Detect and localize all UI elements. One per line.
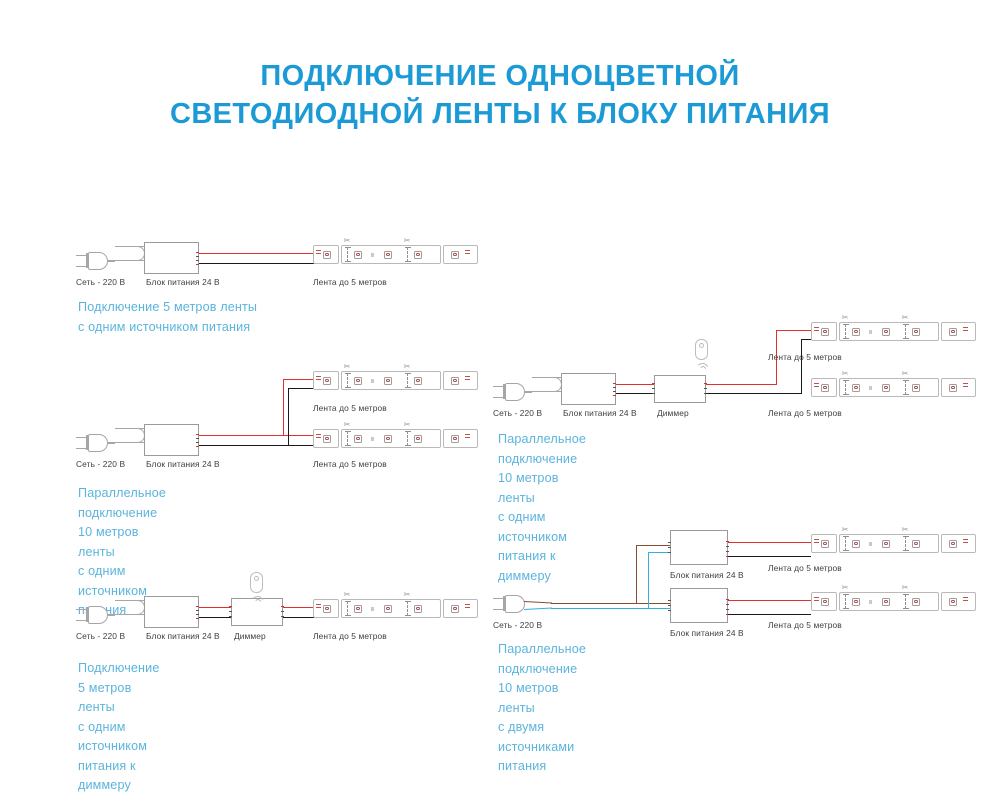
led-strip: ✂ ✂ (811, 592, 976, 611)
label-psu: Блок питания 24 В (563, 408, 637, 418)
scissors-icon: ✂ (902, 584, 909, 592)
led-strip: ✂ ✂ (811, 534, 976, 553)
psu-box (144, 424, 199, 456)
wire-positive-out (706, 384, 777, 385)
wire-positive-riser (283, 379, 284, 436)
wire-live-run (551, 603, 671, 604)
wire-live-top (636, 545, 671, 546)
wire-positive-out (283, 607, 315, 608)
label-strip-bottom: Лента до 5 метров (313, 459, 387, 469)
wire-positive (728, 542, 811, 543)
scheme-1: ✂ ✂ Сеть - 220 В Блок питания 24 В Лента… (0, 0, 500, 120)
label-psu: Блок питания 24 В (146, 631, 220, 641)
scissors-icon: ✂ (842, 584, 849, 592)
label-strip: Лента до 5 метров (313, 277, 387, 287)
wire-negative (728, 614, 811, 615)
psu-box (144, 596, 199, 628)
wire-neutral (524, 608, 552, 611)
wire-positive (199, 435, 314, 436)
label-strip-bottom: Лента до 5 метров (768, 408, 842, 418)
scheme-4-caption: Параллельное подключение 10 метров ленты… (498, 430, 586, 586)
led-strip: ✂ ✂ (313, 429, 478, 448)
label-dimmer: Диммер (234, 631, 266, 641)
scissors-icon: ✂ (404, 237, 411, 245)
dimmer-box (654, 375, 706, 403)
scheme-5-caption: Параллельное подключение 10 метров ленты… (498, 640, 586, 777)
scissors-icon: ✂ (902, 370, 909, 378)
scissors-icon: ✂ (842, 526, 849, 534)
scissors-icon: ✂ (842, 370, 849, 378)
wire-positive (199, 607, 231, 608)
led-strip: ✂ ✂ (313, 371, 478, 390)
scheme-1-caption: Подключение 5 метров ленты с одним источ… (78, 298, 257, 337)
wire-positive (199, 253, 315, 254)
wire-neutral-riser (648, 552, 649, 609)
scissors-icon: ✂ (404, 591, 411, 599)
label-mains: Сеть - 220 В (493, 408, 542, 418)
wire-positive (616, 384, 654, 385)
label-strip-bottom: Лента до 5 метров (768, 620, 842, 630)
label-mains: Сеть - 220 В (76, 277, 125, 287)
led-strip: ✂ ✂ (313, 599, 478, 618)
label-mains: Сеть - 220 В (76, 631, 125, 641)
label-psu-bottom: Блок питания 24 В (670, 628, 744, 638)
label-mains: Сеть - 220 В (76, 459, 125, 469)
wire-live (524, 601, 552, 604)
scissors-icon: ✂ (842, 314, 849, 322)
wire-negative-out (706, 393, 802, 394)
wire-negative (199, 445, 314, 446)
psu-box (670, 530, 728, 565)
psu-box (144, 242, 199, 274)
wire-positive (728, 600, 811, 601)
wire-positive-top (776, 330, 812, 331)
label-strip-top: Лента до 5 метров (768, 563, 842, 573)
wire-negative-riser (288, 388, 289, 446)
scheme-3-caption: Подключение 5 метров ленты с одним источ… (78, 659, 160, 796)
label-strip-top: Лента до 5 метров (313, 403, 387, 413)
led-strip: ✂ ✂ (811, 322, 976, 341)
wire-negative (728, 556, 811, 557)
psu-box (670, 588, 728, 623)
psu-box (561, 373, 616, 405)
scissors-icon: ✂ (344, 363, 351, 371)
led-strip: ✂ ✂ (313, 245, 478, 264)
scissors-icon: ✂ (344, 421, 351, 429)
wire-negative-riser (801, 339, 802, 394)
scissors-icon: ✂ (344, 237, 351, 245)
label-psu: Блок питания 24 В (146, 459, 220, 469)
label-dimmer: Диммер (657, 408, 689, 418)
wire-negative (199, 263, 315, 264)
scissors-icon: ✂ (344, 591, 351, 599)
wire-positive-top (283, 379, 314, 380)
scissors-icon: ✂ (902, 314, 909, 322)
scissors-icon: ✂ (404, 363, 411, 371)
led-strip: ✂ ✂ (811, 378, 976, 397)
wire-live-riser (636, 545, 637, 603)
wire-negative-top (288, 388, 314, 389)
wire-neutral-run (551, 608, 671, 609)
label-strip-top: Лента до 5 метров (768, 352, 842, 362)
scissors-icon: ✂ (902, 526, 909, 534)
wire-negative-out (283, 617, 315, 618)
label-psu: Блок питания 24 В (146, 277, 220, 287)
label-psu-top: Блок питания 24 В (670, 570, 744, 580)
poster-canvas: ПОДКЛЮЧЕНИЕ ОДНОЦВЕТНОЙ СВЕТОДИОДНОЙ ЛЕН… (0, 0, 1000, 800)
label-mains: Сеть - 220 В (493, 620, 542, 630)
wire-negative (199, 617, 231, 618)
wire-negative (616, 393, 654, 394)
scissors-icon: ✂ (404, 421, 411, 429)
label-strip: Лента до 5 метров (313, 631, 387, 641)
